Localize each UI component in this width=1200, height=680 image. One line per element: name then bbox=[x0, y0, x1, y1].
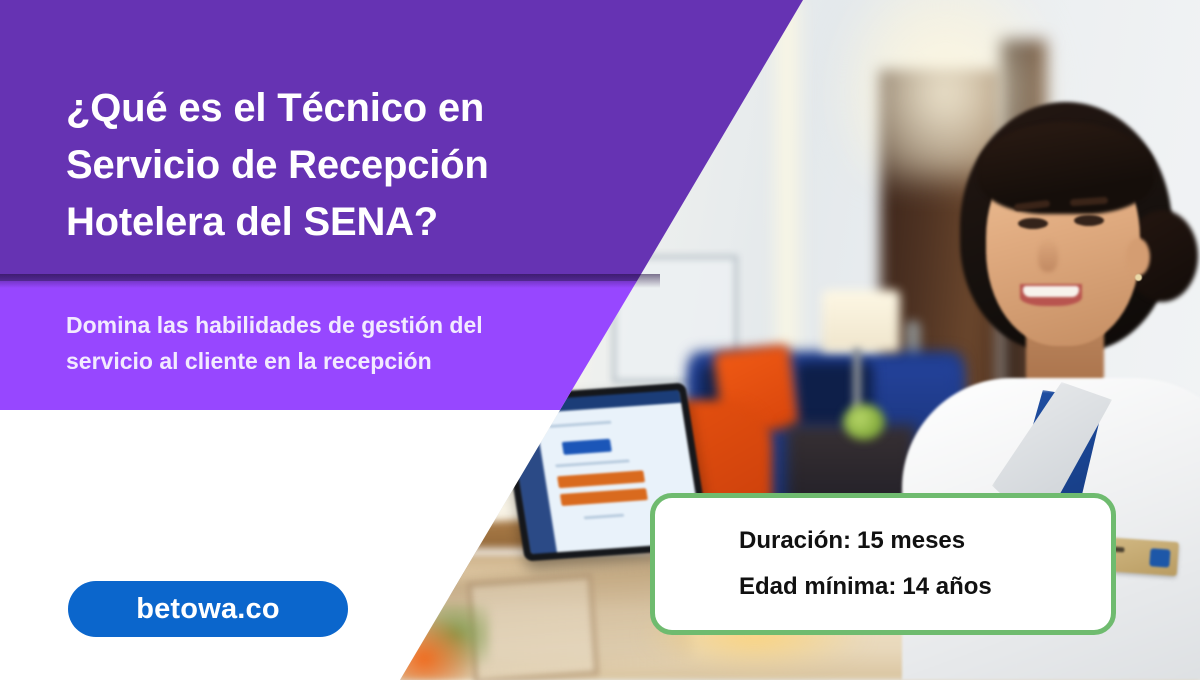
tablet-primary-button bbox=[562, 439, 612, 455]
tablet-action-button-1 bbox=[557, 470, 645, 488]
teeth bbox=[1023, 286, 1079, 297]
name-badge-logo bbox=[1149, 548, 1170, 567]
info-label-duration: Duración: bbox=[739, 527, 851, 554]
tablet-action-button-2 bbox=[560, 488, 648, 506]
brand-logo-pill[interactable]: betowa.co bbox=[68, 581, 348, 637]
tablet-text-line bbox=[555, 459, 630, 467]
hair-front bbox=[978, 122, 1154, 214]
earring bbox=[1135, 274, 1142, 281]
page-title: ¿Qué es el Técnico en Servicio de Recepc… bbox=[66, 80, 606, 250]
table-lamp-shade bbox=[822, 290, 900, 352]
subtitle-line-1: Domina las habilidades de gestión del bbox=[66, 308, 586, 344]
headline-line-2: Servicio de Recepción bbox=[66, 137, 606, 194]
flower-arrangement bbox=[398, 604, 490, 680]
nose bbox=[1038, 238, 1058, 272]
page-subtitle: Domina las habilidades de gestión del se… bbox=[66, 308, 586, 379]
eye-right bbox=[1074, 215, 1104, 226]
tablet-text-line bbox=[549, 421, 612, 428]
smiling-mouth bbox=[1020, 284, 1082, 306]
header-shadow-divider bbox=[0, 274, 660, 288]
info-row-min-age: Edad mínima:14 años bbox=[739, 573, 1111, 601]
ear bbox=[1126, 238, 1150, 276]
tablet-text-line bbox=[584, 514, 625, 520]
info-row-duration: Duración:15 meses bbox=[739, 527, 1111, 555]
eye-left bbox=[1018, 218, 1048, 229]
headline-line-1: ¿Qué es el Técnico en bbox=[66, 80, 606, 137]
brand-logo-label: betowa.co bbox=[136, 593, 280, 626]
subtitle-line-2: servicio al cliente en la recepción bbox=[66, 344, 586, 380]
info-value-min-age: 14 años bbox=[902, 573, 991, 600]
promo-banner: ¿Qué es el Técnico en Servicio de Recepc… bbox=[0, 0, 1200, 680]
info-value-duration: 15 meses bbox=[857, 527, 965, 554]
headline-line-3: Hotelera del SENA? bbox=[66, 194, 606, 251]
course-info-card: Duración:15 meses Edad mínima:14 años bbox=[650, 493, 1116, 635]
potted-plant bbox=[843, 404, 885, 440]
info-label-min-age: Edad mínima: bbox=[739, 573, 896, 600]
